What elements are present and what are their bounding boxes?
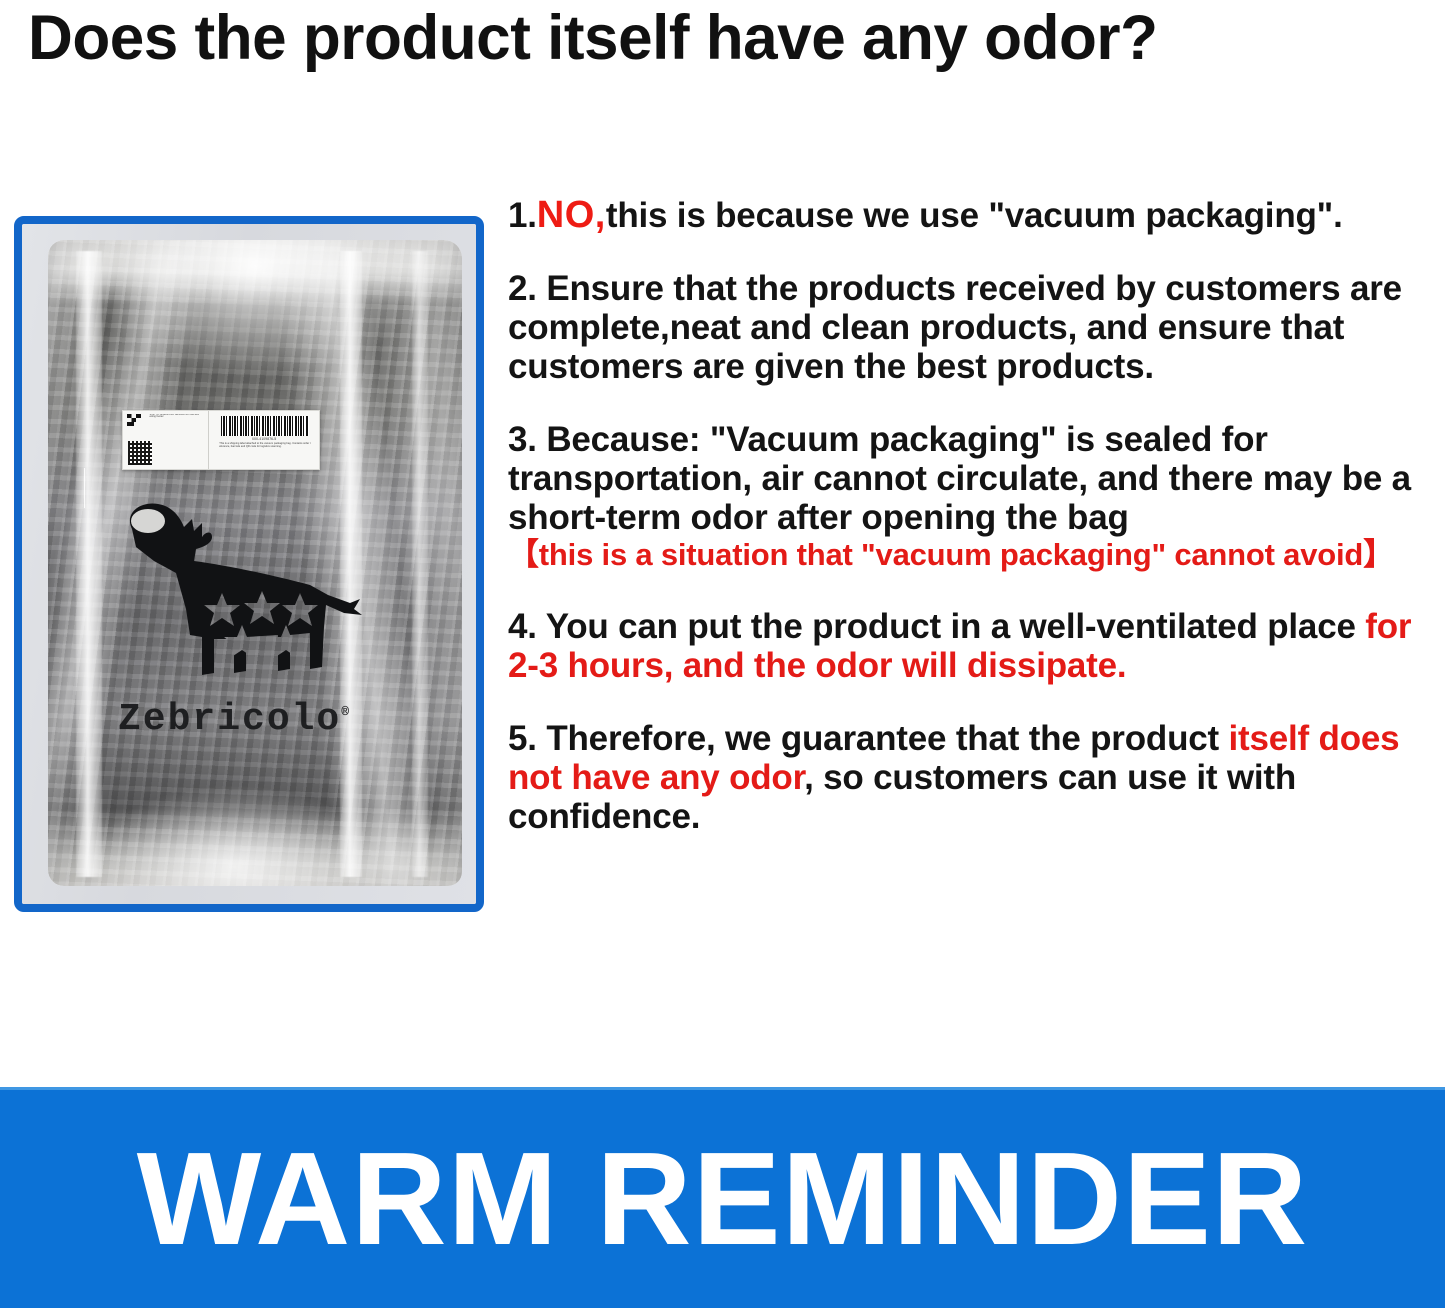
point-4-number: 4. bbox=[508, 607, 537, 646]
shipping-label-right: X00-4109876-5 This is a shipping label a… bbox=[209, 411, 319, 469]
registered-mark: ® bbox=[341, 704, 349, 719]
point-1-number: 1. bbox=[508, 196, 537, 235]
point-1: 1.NO,this is because we use "vacuum pack… bbox=[508, 196, 1428, 235]
point-2: 2. Ensure that the products received by … bbox=[508, 269, 1428, 386]
qr-code-icon bbox=[128, 441, 152, 465]
brand-name: Zebricolo bbox=[118, 698, 341, 741]
warm-reminder-label: WARM REMINDER bbox=[0, 1133, 1445, 1265]
product-photo: SHIP TO: Amazon.com Services LLC FBA Rec… bbox=[22, 224, 476, 904]
point-1-text: this is because we use "vacuum packaging… bbox=[606, 196, 1343, 235]
point-5-text: Therefore, we guarantee that the product bbox=[546, 719, 1219, 758]
product-image-frame: SHIP TO: Amazon.com Services LLC FBA Rec… bbox=[14, 216, 484, 912]
point-3: 3. Because: "Vacuum packaging" is sealed… bbox=[508, 420, 1428, 573]
odor-explanation-list: 1.NO,this is because we use "vacuum pack… bbox=[508, 196, 1428, 836]
point-2-text: Ensure that the products received by cus… bbox=[508, 269, 1402, 386]
barcode-number: X00-4109876-5 bbox=[213, 437, 315, 441]
point-5-number: 5. bbox=[508, 719, 537, 758]
label-tail bbox=[84, 468, 85, 508]
page-title: Does the product itself have any odor? bbox=[28, 2, 1397, 74]
shipping-label-fine-print: This is a shipping label attached to the… bbox=[219, 442, 311, 448]
point-3-text: Because: "Vacuum packaging" is sealed fo… bbox=[508, 420, 1411, 537]
zebra-giraffe-logo-icon bbox=[114, 499, 364, 689]
point-5: 5. Therefore, we guarantee that the prod… bbox=[508, 719, 1428, 836]
bag-seal-strip bbox=[412, 251, 428, 877]
shipping-label: SHIP TO: Amazon.com Services LLC FBA Rec… bbox=[122, 410, 320, 470]
brand-wordmark: Zebricolo® bbox=[118, 698, 349, 741]
point-1-no: NO, bbox=[537, 194, 606, 236]
bag-seal-strip bbox=[76, 251, 102, 877]
shipping-label-address: SHIP TO: Amazon.com Services LLC FBA Rec… bbox=[149, 414, 199, 425]
point-3-red-note: 【this is a situation that "vacuum packag… bbox=[508, 537, 1428, 573]
point-3-number: 3. bbox=[508, 420, 537, 459]
warm-reminder-banner: WARM REMINDER bbox=[0, 1087, 1445, 1308]
point-4-text: You can put the product in a well-ventil… bbox=[546, 607, 1356, 646]
logo-mark-icon bbox=[127, 414, 141, 426]
point-2-number: 2. bbox=[508, 269, 537, 308]
shipping-label-left: SHIP TO: Amazon.com Services LLC FBA Rec… bbox=[123, 411, 209, 469]
barcode-icon bbox=[221, 416, 309, 436]
point-4: 4. You can put the product in a well-ven… bbox=[508, 607, 1428, 685]
